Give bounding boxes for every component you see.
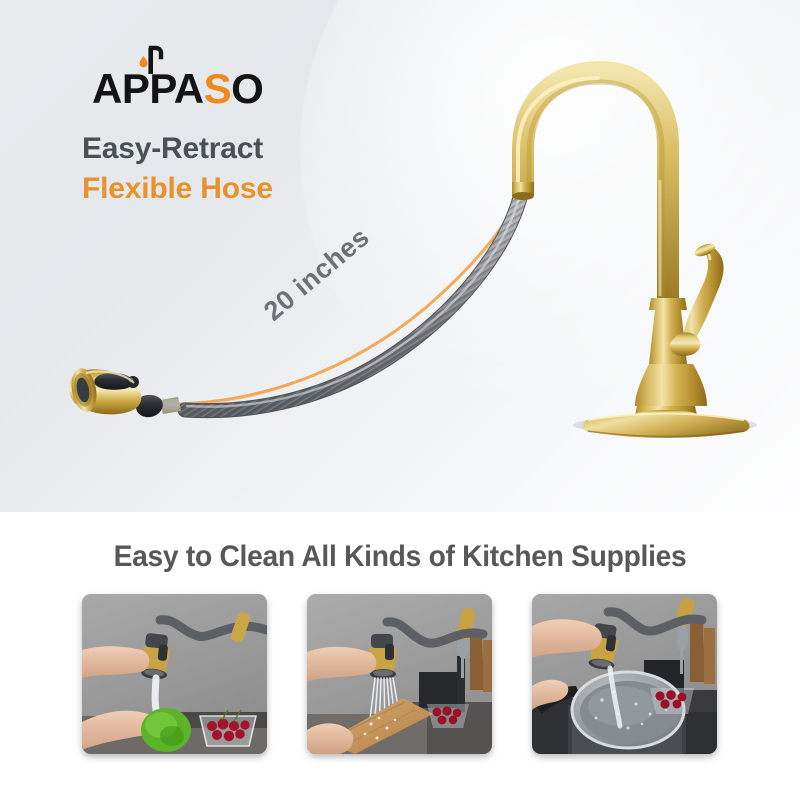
faucet-deck-plate [582,413,749,438]
pull-down-sprayer-head [68,366,181,417]
photo-washing-vegetable-image [82,594,267,754]
brand-wordmark: APPASO [92,68,263,110]
brand-wordmark-tail: O [231,65,263,112]
faucet-body [512,72,707,420]
hero-panel: APPASO Easy-Retract Flexible Hose 20 inc… [0,0,800,512]
flexible-hose [185,186,523,411]
photo-gallery [0,594,800,774]
brand-logo: APPASO [92,44,322,110]
section-title: Easy to Clean All Kinds of Kitchen Suppl… [24,540,776,574]
brand-wordmark-accent: S [204,65,232,112]
headline-line-1: Easy-Retract [82,132,263,166]
photo-rinsing-pan[interactable] [532,594,717,754]
product-marketing-image: APPASO Easy-Retract Flexible Hose 20 inc… [0,0,800,800]
photo-rinsing-pan-image [532,594,717,754]
headline-line-2: Flexible Hose [82,172,273,206]
photo-rinsing-cutting-board[interactable] [307,594,492,754]
photo-washing-vegetable[interactable] [82,594,267,754]
photo-rinsing-cutting-board-image [307,594,492,754]
brand-wordmark-main: APPA [92,65,204,112]
lower-panel: Easy to Clean All Kinds of Kitchen Suppl… [0,512,800,800]
